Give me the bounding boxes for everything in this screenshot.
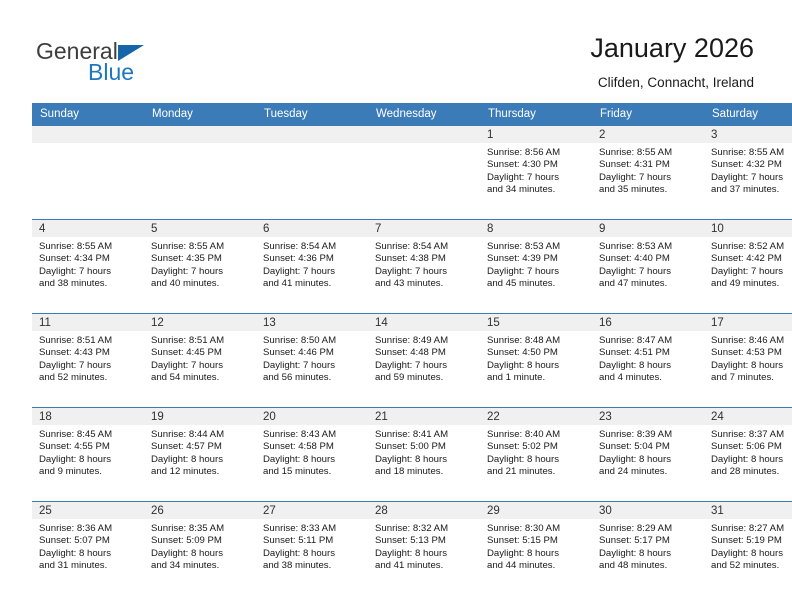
calendar-cell-inner <box>256 126 368 219</box>
day-details: Sunrise: 8:39 AMSunset: 5:04 PMDaylight:… <box>592 425 704 479</box>
day-detail-sunrise: Sunrise: 8:44 AM <box>151 429 252 441</box>
day-details <box>32 143 144 147</box>
calendar-cell-inner: 7Sunrise: 8:54 AMSunset: 4:38 PMDaylight… <box>368 220 480 313</box>
day-detail-daylight-line1: Daylight: 8 hours <box>599 548 700 560</box>
day-details: Sunrise: 8:29 AMSunset: 5:17 PMDaylight:… <box>592 519 704 573</box>
calendar-day-cell[interactable]: 14Sunrise: 8:49 AMSunset: 4:48 PMDayligh… <box>368 314 480 408</box>
day-detail-daylight-line1: Daylight: 7 hours <box>375 360 476 372</box>
calendar-cell-empty <box>368 126 480 220</box>
day-details: Sunrise: 8:40 AMSunset: 5:02 PMDaylight:… <box>480 425 592 479</box>
day-detail-sunset: Sunset: 4:35 PM <box>151 253 252 265</box>
day-number: 14 <box>368 314 480 331</box>
day-detail-daylight-line2: and 34 minutes. <box>487 184 588 196</box>
day-detail-sunset: Sunset: 4:42 PM <box>711 253 792 265</box>
calendar-body: 1Sunrise: 8:56 AMSunset: 4:30 PMDaylight… <box>32 126 792 596</box>
day-detail-sunset: Sunset: 5:06 PM <box>711 441 792 453</box>
calendar-cell-inner: 27Sunrise: 8:33 AMSunset: 5:11 PMDayligh… <box>256 502 368 595</box>
day-detail-sunrise: Sunrise: 8:39 AM <box>599 429 700 441</box>
day-detail-daylight-line2: and 28 minutes. <box>711 466 792 478</box>
day-number: 1 <box>480 126 592 143</box>
day-detail-sunrise: Sunrise: 8:52 AM <box>711 241 792 253</box>
day-detail-daylight-line2: and 56 minutes. <box>263 372 364 384</box>
day-detail-sunset: Sunset: 5:09 PM <box>151 535 252 547</box>
day-detail-sunset: Sunset: 4:51 PM <box>599 347 700 359</box>
day-number: 21 <box>368 408 480 425</box>
calendar-cell-inner: 23Sunrise: 8:39 AMSunset: 5:04 PMDayligh… <box>592 408 704 501</box>
day-detail-sunrise: Sunrise: 8:56 AM <box>487 147 588 159</box>
day-details: Sunrise: 8:48 AMSunset: 4:50 PMDaylight:… <box>480 331 592 385</box>
day-detail-daylight-line1: Daylight: 8 hours <box>487 454 588 466</box>
calendar-cell-inner: 31Sunrise: 8:27 AMSunset: 5:19 PMDayligh… <box>704 502 792 595</box>
day-detail-sunrise: Sunrise: 8:51 AM <box>151 335 252 347</box>
day-detail-sunset: Sunset: 5:15 PM <box>487 535 588 547</box>
calendar-week-row: 11Sunrise: 8:51 AMSunset: 4:43 PMDayligh… <box>32 314 792 408</box>
day-number: 24 <box>704 408 792 425</box>
calendar-day-cell[interactable]: 30Sunrise: 8:29 AMSunset: 5:17 PMDayligh… <box>592 502 704 596</box>
day-detail-daylight-line2: and 49 minutes. <box>711 278 792 290</box>
day-number <box>144 126 256 143</box>
calendar-cell-inner: 14Sunrise: 8:49 AMSunset: 4:48 PMDayligh… <box>368 314 480 407</box>
day-detail-daylight-line2: and 21 minutes. <box>487 466 588 478</box>
calendar-day-cell[interactable]: 28Sunrise: 8:32 AMSunset: 5:13 PMDayligh… <box>368 502 480 596</box>
day-detail-sunset: Sunset: 4:55 PM <box>39 441 140 453</box>
day-detail-sunset: Sunset: 4:34 PM <box>39 253 140 265</box>
day-details: Sunrise: 8:54 AMSunset: 4:36 PMDaylight:… <box>256 237 368 291</box>
day-details: Sunrise: 8:53 AMSunset: 4:40 PMDaylight:… <box>592 237 704 291</box>
day-detail-sunrise: Sunrise: 8:32 AM <box>375 523 476 535</box>
day-detail-sunrise: Sunrise: 8:53 AM <box>487 241 588 253</box>
day-detail-daylight-line2: and 59 minutes. <box>375 372 476 384</box>
day-details: Sunrise: 8:46 AMSunset: 4:53 PMDaylight:… <box>704 331 792 385</box>
day-number: 27 <box>256 502 368 519</box>
day-detail-daylight-line1: Daylight: 8 hours <box>711 548 792 560</box>
day-detail-sunset: Sunset: 4:53 PM <box>711 347 792 359</box>
day-detail-daylight-line1: Daylight: 8 hours <box>711 360 792 372</box>
day-detail-sunset: Sunset: 4:30 PM <box>487 159 588 171</box>
day-detail-sunrise: Sunrise: 8:27 AM <box>711 523 792 535</box>
day-detail-daylight-line1: Daylight: 8 hours <box>599 360 700 372</box>
day-detail-daylight-line2: and 35 minutes. <box>599 184 700 196</box>
calendar-cell-inner: 18Sunrise: 8:45 AMSunset: 4:55 PMDayligh… <box>32 408 144 501</box>
day-detail-sunrise: Sunrise: 8:47 AM <box>599 335 700 347</box>
day-detail-sunrise: Sunrise: 8:43 AM <box>263 429 364 441</box>
day-number: 31 <box>704 502 792 519</box>
day-detail-sunset: Sunset: 4:43 PM <box>39 347 140 359</box>
calendar-cell-inner: 8Sunrise: 8:53 AMSunset: 4:39 PMDaylight… <box>480 220 592 313</box>
generalblue-logo[interactable]: General Blue <box>36 38 236 88</box>
calendar-cell-inner: 10Sunrise: 8:52 AMSunset: 4:42 PMDayligh… <box>704 220 792 313</box>
day-detail-sunrise: Sunrise: 8:46 AM <box>711 335 792 347</box>
day-detail-daylight-line1: Daylight: 8 hours <box>151 548 252 560</box>
day-details: Sunrise: 8:55 AMSunset: 4:34 PMDaylight:… <box>32 237 144 291</box>
calendar-cell-inner <box>32 126 144 219</box>
day-detail-daylight-line1: Daylight: 8 hours <box>375 454 476 466</box>
day-details: Sunrise: 8:55 AMSunset: 4:31 PMDaylight:… <box>592 143 704 197</box>
day-number: 17 <box>704 314 792 331</box>
day-detail-sunrise: Sunrise: 8:51 AM <box>39 335 140 347</box>
day-details: Sunrise: 8:32 AMSunset: 5:13 PMDaylight:… <box>368 519 480 573</box>
day-number: 20 <box>256 408 368 425</box>
day-details: Sunrise: 8:49 AMSunset: 4:48 PMDaylight:… <box>368 331 480 385</box>
day-detail-daylight-line2: and 54 minutes. <box>151 372 252 384</box>
day-number: 29 <box>480 502 592 519</box>
day-details: Sunrise: 8:41 AMSunset: 5:00 PMDaylight:… <box>368 425 480 479</box>
calendar-day-cell[interactable]: 5Sunrise: 8:55 AMSunset: 4:35 PMDaylight… <box>144 220 256 314</box>
day-detail-sunset: Sunset: 4:50 PM <box>487 347 588 359</box>
day-number: 18 <box>32 408 144 425</box>
day-detail-sunset: Sunset: 4:39 PM <box>487 253 588 265</box>
day-detail-daylight-line1: Daylight: 8 hours <box>151 454 252 466</box>
day-detail-daylight-line2: and 9 minutes. <box>39 466 140 478</box>
calendar-day-cell[interactable]: 3Sunrise: 8:55 AMSunset: 4:32 PMDaylight… <box>704 126 792 220</box>
weekday-header-saturday: Saturday <box>704 103 792 126</box>
calendar-day-cell[interactable]: 20Sunrise: 8:43 AMSunset: 4:58 PMDayligh… <box>256 408 368 502</box>
calendar-day-cell[interactable]: 11Sunrise: 8:51 AMSunset: 4:43 PMDayligh… <box>32 314 144 408</box>
calendar-week-row: 4Sunrise: 8:55 AMSunset: 4:34 PMDaylight… <box>32 220 792 314</box>
day-details: Sunrise: 8:35 AMSunset: 5:09 PMDaylight:… <box>144 519 256 573</box>
day-detail-sunrise: Sunrise: 8:35 AM <box>151 523 252 535</box>
day-detail-sunset: Sunset: 4:45 PM <box>151 347 252 359</box>
day-detail-sunset: Sunset: 4:46 PM <box>263 347 364 359</box>
day-detail-daylight-line1: Daylight: 7 hours <box>711 266 792 278</box>
calendar-cell-empty <box>144 126 256 220</box>
day-details: Sunrise: 8:55 AMSunset: 4:32 PMDaylight:… <box>704 143 792 197</box>
calendar-cell-inner: 9Sunrise: 8:53 AMSunset: 4:40 PMDaylight… <box>592 220 704 313</box>
day-number: 23 <box>592 408 704 425</box>
day-details: Sunrise: 8:56 AMSunset: 4:30 PMDaylight:… <box>480 143 592 197</box>
calendar-cell-inner: 22Sunrise: 8:40 AMSunset: 5:02 PMDayligh… <box>480 408 592 501</box>
day-number: 25 <box>32 502 144 519</box>
day-detail-sunrise: Sunrise: 8:37 AM <box>711 429 792 441</box>
calendar-day-cell[interactable]: 27Sunrise: 8:33 AMSunset: 5:11 PMDayligh… <box>256 502 368 596</box>
day-detail-daylight-line2: and 31 minutes. <box>39 560 140 572</box>
day-detail-daylight-line1: Daylight: 7 hours <box>151 360 252 372</box>
day-detail-sunrise: Sunrise: 8:33 AM <box>263 523 364 535</box>
calendar-week-row: 18Sunrise: 8:45 AMSunset: 4:55 PMDayligh… <box>32 408 792 502</box>
day-number <box>32 126 144 143</box>
day-detail-sunset: Sunset: 4:40 PM <box>599 253 700 265</box>
day-detail-sunrise: Sunrise: 8:41 AM <box>375 429 476 441</box>
calendar-cell-empty <box>256 126 368 220</box>
day-detail-sunrise: Sunrise: 8:55 AM <box>151 241 252 253</box>
day-detail-daylight-line1: Daylight: 8 hours <box>263 548 364 560</box>
day-detail-daylight-line2: and 45 minutes. <box>487 278 588 290</box>
day-number <box>368 126 480 143</box>
day-detail-daylight-line1: Daylight: 8 hours <box>375 548 476 560</box>
day-detail-sunrise: Sunrise: 8:49 AM <box>375 335 476 347</box>
calendar-day-cell[interactable]: 7Sunrise: 8:54 AMSunset: 4:38 PMDaylight… <box>368 220 480 314</box>
day-detail-sunrise: Sunrise: 8:55 AM <box>39 241 140 253</box>
day-detail-sunrise: Sunrise: 8:48 AM <box>487 335 588 347</box>
day-details: Sunrise: 8:55 AMSunset: 4:35 PMDaylight:… <box>144 237 256 291</box>
day-number: 6 <box>256 220 368 237</box>
day-number: 11 <box>32 314 144 331</box>
day-number: 26 <box>144 502 256 519</box>
calendar-cell-inner: 12Sunrise: 8:51 AMSunset: 4:45 PMDayligh… <box>144 314 256 407</box>
calendar-day-cell[interactable]: 13Sunrise: 8:50 AMSunset: 4:46 PMDayligh… <box>256 314 368 408</box>
calendar-cell-inner: 13Sunrise: 8:50 AMSunset: 4:46 PMDayligh… <box>256 314 368 407</box>
calendar-cell-inner: 6Sunrise: 8:54 AMSunset: 4:36 PMDaylight… <box>256 220 368 313</box>
calendar-day-cell[interactable]: 9Sunrise: 8:53 AMSunset: 4:40 PMDaylight… <box>592 220 704 314</box>
page-header: General Blue January 2026 Clifden, Conna… <box>0 0 792 103</box>
calendar-day-cell[interactable]: 12Sunrise: 8:51 AMSunset: 4:45 PMDayligh… <box>144 314 256 408</box>
day-details: Sunrise: 8:53 AMSunset: 4:39 PMDaylight:… <box>480 237 592 291</box>
weekday-header-tuesday: Tuesday <box>256 103 368 126</box>
day-number: 13 <box>256 314 368 331</box>
day-detail-daylight-line2: and 38 minutes. <box>39 278 140 290</box>
calendar-cell-inner: 16Sunrise: 8:47 AMSunset: 4:51 PMDayligh… <box>592 314 704 407</box>
day-detail-sunset: Sunset: 5:11 PM <box>263 535 364 547</box>
day-detail-daylight-line2: and 48 minutes. <box>599 560 700 572</box>
day-detail-sunset: Sunset: 5:04 PM <box>599 441 700 453</box>
calendar-cell-inner: 2Sunrise: 8:55 AMSunset: 4:31 PMDaylight… <box>592 126 704 219</box>
day-number: 19 <box>144 408 256 425</box>
day-number: 4 <box>32 220 144 237</box>
day-detail-daylight-line1: Daylight: 8 hours <box>263 454 364 466</box>
day-number: 12 <box>144 314 256 331</box>
day-details: Sunrise: 8:51 AMSunset: 4:45 PMDaylight:… <box>144 331 256 385</box>
calendar-day-cell[interactable]: 16Sunrise: 8:47 AMSunset: 4:51 PMDayligh… <box>592 314 704 408</box>
calendar-day-cell[interactable]: 31Sunrise: 8:27 AMSunset: 5:19 PMDayligh… <box>704 502 792 596</box>
day-detail-sunrise: Sunrise: 8:50 AM <box>263 335 364 347</box>
day-detail-daylight-line1: Daylight: 8 hours <box>487 360 588 372</box>
calendar-cell-inner: 19Sunrise: 8:44 AMSunset: 4:57 PMDayligh… <box>144 408 256 501</box>
day-detail-sunrise: Sunrise: 8:54 AM <box>263 241 364 253</box>
day-detail-sunset: Sunset: 4:36 PM <box>263 253 364 265</box>
calendar-day-cell[interactable]: 18Sunrise: 8:45 AMSunset: 4:55 PMDayligh… <box>32 408 144 502</box>
calendar-cell-inner: 3Sunrise: 8:55 AMSunset: 4:32 PMDaylight… <box>704 126 792 219</box>
calendar-day-cell[interactable]: 22Sunrise: 8:40 AMSunset: 5:02 PMDayligh… <box>480 408 592 502</box>
calendar-day-cell[interactable]: 19Sunrise: 8:44 AMSunset: 4:57 PMDayligh… <box>144 408 256 502</box>
calendar-day-cell[interactable]: 23Sunrise: 8:39 AMSunset: 5:04 PMDayligh… <box>592 408 704 502</box>
calendar-cell-inner: 24Sunrise: 8:37 AMSunset: 5:06 PMDayligh… <box>704 408 792 501</box>
day-details: Sunrise: 8:43 AMSunset: 4:58 PMDaylight:… <box>256 425 368 479</box>
day-details: Sunrise: 8:52 AMSunset: 4:42 PMDaylight:… <box>704 237 792 291</box>
day-number: 22 <box>480 408 592 425</box>
day-detail-daylight-line2: and 1 minute. <box>487 372 588 384</box>
day-details: Sunrise: 8:30 AMSunset: 5:15 PMDaylight:… <box>480 519 592 573</box>
day-detail-daylight-line1: Daylight: 7 hours <box>599 172 700 184</box>
day-number <box>256 126 368 143</box>
calendar-day-cell[interactable]: 6Sunrise: 8:54 AMSunset: 4:36 PMDaylight… <box>256 220 368 314</box>
day-number: 9 <box>592 220 704 237</box>
day-detail-daylight-line2: and 38 minutes. <box>263 560 364 572</box>
day-number: 2 <box>592 126 704 143</box>
calendar-day-cell[interactable]: 8Sunrise: 8:53 AMSunset: 4:39 PMDaylight… <box>480 220 592 314</box>
day-detail-daylight-line1: Daylight: 7 hours <box>711 172 792 184</box>
day-details <box>368 143 480 147</box>
day-detail-daylight-line1: Daylight: 7 hours <box>39 360 140 372</box>
calendar-cell-inner: 20Sunrise: 8:43 AMSunset: 4:58 PMDayligh… <box>256 408 368 501</box>
calendar-cell-inner <box>368 126 480 219</box>
calendar-table: Sunday Monday Tuesday Wednesday Thursday… <box>32 103 792 595</box>
calendar-cell-inner: 30Sunrise: 8:29 AMSunset: 5:17 PMDayligh… <box>592 502 704 595</box>
calendar-week-row: 25Sunrise: 8:36 AMSunset: 5:07 PMDayligh… <box>32 502 792 596</box>
calendar-day-cell[interactable]: 1Sunrise: 8:56 AMSunset: 4:30 PMDaylight… <box>480 126 592 220</box>
day-detail-sunrise: Sunrise: 8:36 AM <box>39 523 140 535</box>
day-details <box>144 143 256 147</box>
calendar-cell-inner <box>144 126 256 219</box>
day-detail-sunrise: Sunrise: 8:30 AM <box>487 523 588 535</box>
weekday-header-friday: Friday <box>592 103 704 126</box>
day-detail-daylight-line1: Daylight: 7 hours <box>487 172 588 184</box>
day-number: 5 <box>144 220 256 237</box>
day-detail-sunset: Sunset: 4:48 PM <box>375 347 476 359</box>
day-details <box>256 143 368 147</box>
calendar-cell-inner: 17Sunrise: 8:46 AMSunset: 4:53 PMDayligh… <box>704 314 792 407</box>
day-detail-sunset: Sunset: 4:38 PM <box>375 253 476 265</box>
day-details: Sunrise: 8:36 AMSunset: 5:07 PMDaylight:… <box>32 519 144 573</box>
day-detail-daylight-line1: Daylight: 7 hours <box>263 360 364 372</box>
day-number: 3 <box>704 126 792 143</box>
day-details: Sunrise: 8:50 AMSunset: 4:46 PMDaylight:… <box>256 331 368 385</box>
day-details: Sunrise: 8:45 AMSunset: 4:55 PMDaylight:… <box>32 425 144 479</box>
day-detail-daylight-line2: and 37 minutes. <box>711 184 792 196</box>
calendar-day-cell[interactable]: 17Sunrise: 8:46 AMSunset: 4:53 PMDayligh… <box>704 314 792 408</box>
day-detail-daylight-line1: Daylight: 7 hours <box>375 266 476 278</box>
day-number: 15 <box>480 314 592 331</box>
calendar-day-cell[interactable]: 10Sunrise: 8:52 AMSunset: 4:42 PMDayligh… <box>704 220 792 314</box>
day-detail-daylight-line2: and 12 minutes. <box>151 466 252 478</box>
calendar-cell-inner: 21Sunrise: 8:41 AMSunset: 5:00 PMDayligh… <box>368 408 480 501</box>
calendar-day-cell[interactable]: 4Sunrise: 8:55 AMSunset: 4:34 PMDaylight… <box>32 220 144 314</box>
day-detail-daylight-line1: Daylight: 7 hours <box>151 266 252 278</box>
day-detail-sunset: Sunset: 4:57 PM <box>151 441 252 453</box>
day-details: Sunrise: 8:33 AMSunset: 5:11 PMDaylight:… <box>256 519 368 573</box>
day-number: 30 <box>592 502 704 519</box>
day-detail-daylight-line1: Daylight: 8 hours <box>487 548 588 560</box>
calendar-day-cell[interactable]: 26Sunrise: 8:35 AMSunset: 5:09 PMDayligh… <box>144 502 256 596</box>
calendar-cell-empty <box>32 126 144 220</box>
calendar-cell-inner: 4Sunrise: 8:55 AMSunset: 4:34 PMDaylight… <box>32 220 144 313</box>
day-detail-sunrise: Sunrise: 8:54 AM <box>375 241 476 253</box>
day-detail-daylight-line1: Daylight: 7 hours <box>263 266 364 278</box>
calendar-day-cell[interactable]: 29Sunrise: 8:30 AMSunset: 5:15 PMDayligh… <box>480 502 592 596</box>
page-title: January 2026 <box>590 32 754 64</box>
weekday-header-thursday: Thursday <box>480 103 592 126</box>
logo-text-blue: Blue <box>88 59 134 85</box>
day-detail-sunrise: Sunrise: 8:55 AM <box>711 147 792 159</box>
day-detail-daylight-line2: and 7 minutes. <box>711 372 792 384</box>
day-detail-sunset: Sunset: 4:58 PM <box>263 441 364 453</box>
calendar-cell-inner: 5Sunrise: 8:55 AMSunset: 4:35 PMDaylight… <box>144 220 256 313</box>
day-detail-sunrise: Sunrise: 8:29 AM <box>599 523 700 535</box>
day-detail-daylight-line2: and 44 minutes. <box>487 560 588 572</box>
title-block: January 2026 Clifden, Connacht, Ireland <box>590 32 754 92</box>
calendar-cell-inner: 1Sunrise: 8:56 AMSunset: 4:30 PMDaylight… <box>480 126 592 219</box>
day-detail-daylight-line2: and 34 minutes. <box>151 560 252 572</box>
calendar-day-cell[interactable]: 15Sunrise: 8:48 AMSunset: 4:50 PMDayligh… <box>480 314 592 408</box>
day-detail-daylight-line2: and 41 minutes. <box>375 560 476 572</box>
day-number: 10 <box>704 220 792 237</box>
calendar-week-row: 1Sunrise: 8:56 AMSunset: 4:30 PMDaylight… <box>32 126 792 220</box>
day-details: Sunrise: 8:51 AMSunset: 4:43 PMDaylight:… <box>32 331 144 385</box>
weekday-header-row: Sunday Monday Tuesday Wednesday Thursday… <box>32 103 792 126</box>
calendar-day-cell[interactable]: 24Sunrise: 8:37 AMSunset: 5:06 PMDayligh… <box>704 408 792 502</box>
weekday-header-wednesday: Wednesday <box>368 103 480 126</box>
day-detail-daylight-line1: Daylight: 7 hours <box>487 266 588 278</box>
day-detail-daylight-line1: Daylight: 7 hours <box>599 266 700 278</box>
day-detail-daylight-line2: and 41 minutes. <box>263 278 364 290</box>
day-number: 8 <box>480 220 592 237</box>
day-detail-sunrise: Sunrise: 8:53 AM <box>599 241 700 253</box>
day-detail-sunset: Sunset: 5:00 PM <box>375 441 476 453</box>
day-detail-sunset: Sunset: 5:07 PM <box>39 535 140 547</box>
calendar-cell-inner: 26Sunrise: 8:35 AMSunset: 5:09 PMDayligh… <box>144 502 256 595</box>
day-detail-sunrise: Sunrise: 8:55 AM <box>599 147 700 159</box>
day-detail-daylight-line1: Daylight: 7 hours <box>39 266 140 278</box>
day-detail-sunset: Sunset: 5:02 PM <box>487 441 588 453</box>
day-detail-daylight-line2: and 4 minutes. <box>599 372 700 384</box>
calendar-day-cell[interactable]: 25Sunrise: 8:36 AMSunset: 5:07 PMDayligh… <box>32 502 144 596</box>
day-detail-daylight-line2: and 15 minutes. <box>263 466 364 478</box>
weekday-header-monday: Monday <box>144 103 256 126</box>
day-detail-daylight-line1: Daylight: 8 hours <box>39 454 140 466</box>
day-detail-sunset: Sunset: 5:19 PM <box>711 535 792 547</box>
calendar-cell-inner: 15Sunrise: 8:48 AMSunset: 4:50 PMDayligh… <box>480 314 592 407</box>
calendar-day-cell[interactable]: 2Sunrise: 8:55 AMSunset: 4:31 PMDaylight… <box>592 126 704 220</box>
day-number: 7 <box>368 220 480 237</box>
calendar-cell-inner: 25Sunrise: 8:36 AMSunset: 5:07 PMDayligh… <box>32 502 144 595</box>
day-number: 28 <box>368 502 480 519</box>
day-detail-sunset: Sunset: 5:13 PM <box>375 535 476 547</box>
day-detail-daylight-line1: Daylight: 8 hours <box>599 454 700 466</box>
calendar-page: General Blue January 2026 Clifden, Conna… <box>0 0 792 612</box>
day-detail-daylight-line2: and 18 minutes. <box>375 466 476 478</box>
day-number: 16 <box>592 314 704 331</box>
day-detail-daylight-line2: and 40 minutes. <box>151 278 252 290</box>
day-detail-daylight-line1: Daylight: 8 hours <box>39 548 140 560</box>
day-detail-daylight-line2: and 43 minutes. <box>375 278 476 290</box>
calendar-cell-inner: 29Sunrise: 8:30 AMSunset: 5:15 PMDayligh… <box>480 502 592 595</box>
day-detail-daylight-line2: and 47 minutes. <box>599 278 700 290</box>
day-details: Sunrise: 8:37 AMSunset: 5:06 PMDaylight:… <box>704 425 792 479</box>
day-detail-daylight-line2: and 52 minutes. <box>39 372 140 384</box>
day-detail-sunset: Sunset: 5:17 PM <box>599 535 700 547</box>
day-details: Sunrise: 8:27 AMSunset: 5:19 PMDaylight:… <box>704 519 792 573</box>
day-details: Sunrise: 8:44 AMSunset: 4:57 PMDaylight:… <box>144 425 256 479</box>
calendar-cell-inner: 28Sunrise: 8:32 AMSunset: 5:13 PMDayligh… <box>368 502 480 595</box>
day-details: Sunrise: 8:54 AMSunset: 4:38 PMDaylight:… <box>368 237 480 291</box>
weekday-header-sunday: Sunday <box>32 103 144 126</box>
location-subtitle: Clifden, Connacht, Ireland <box>590 74 754 92</box>
day-detail-sunset: Sunset: 4:31 PM <box>599 159 700 171</box>
day-detail-daylight-line2: and 24 minutes. <box>599 466 700 478</box>
day-detail-sunrise: Sunrise: 8:45 AM <box>39 429 140 441</box>
calendar-cell-inner: 11Sunrise: 8:51 AMSunset: 4:43 PMDayligh… <box>32 314 144 407</box>
day-detail-daylight-line2: and 52 minutes. <box>711 560 792 572</box>
day-detail-daylight-line1: Daylight: 8 hours <box>711 454 792 466</box>
day-detail-sunset: Sunset: 4:32 PM <box>711 159 792 171</box>
day-detail-sunrise: Sunrise: 8:40 AM <box>487 429 588 441</box>
calendar-day-cell[interactable]: 21Sunrise: 8:41 AMSunset: 5:00 PMDayligh… <box>368 408 480 502</box>
day-details: Sunrise: 8:47 AMSunset: 4:51 PMDaylight:… <box>592 331 704 385</box>
